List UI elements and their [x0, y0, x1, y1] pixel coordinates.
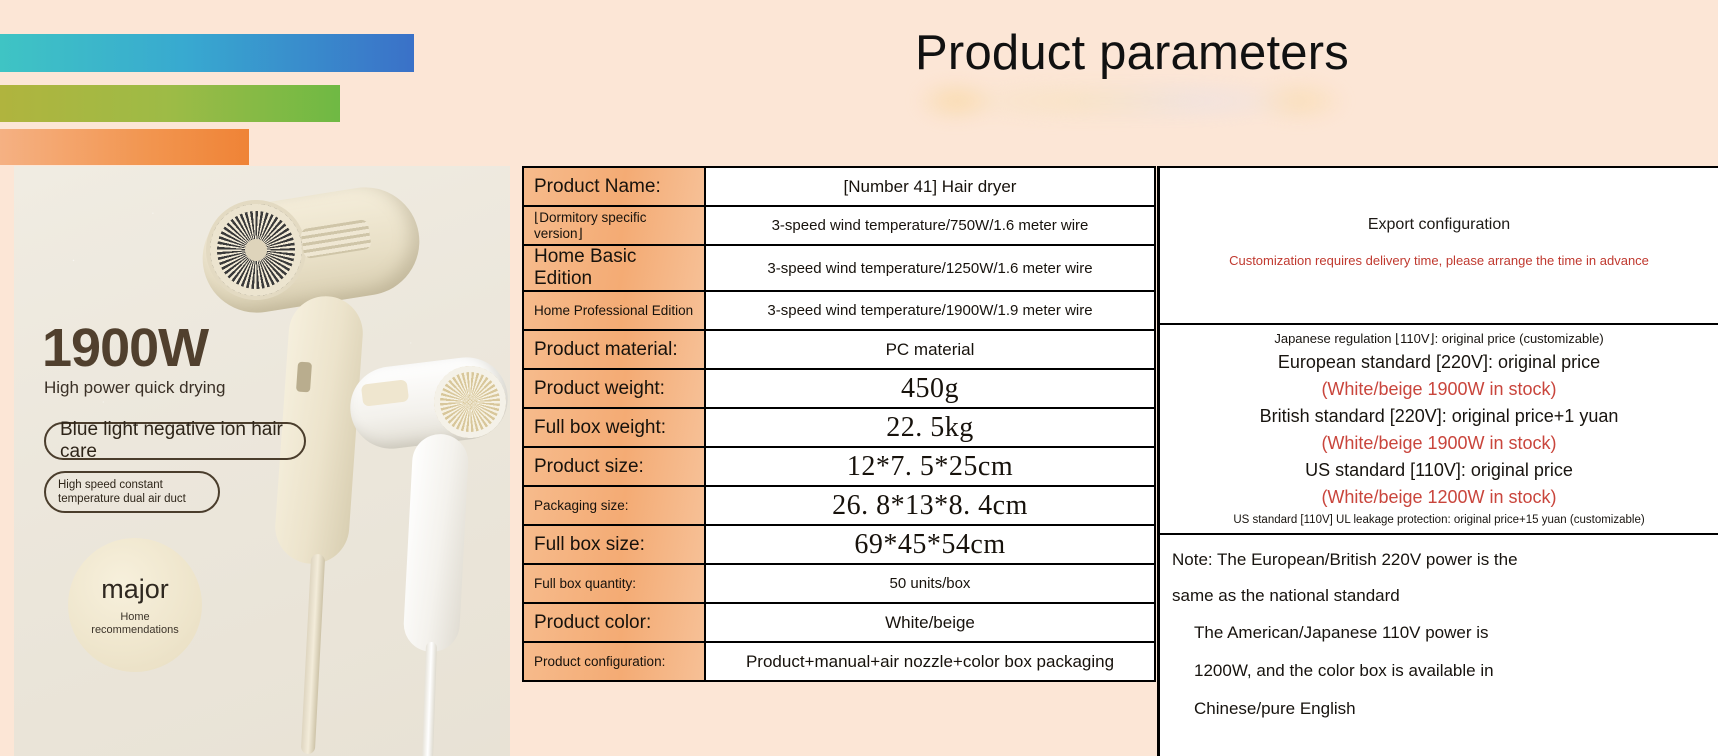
table-row: Home Basic Edition3-speed wind temperatu…	[523, 245, 1155, 291]
product-hero-image: 1900W High power quick drying Blue light…	[14, 166, 510, 756]
spec-key-cell: Product material:	[523, 330, 705, 369]
product-parameters-page: Product parameters 1900W High power quic…	[0, 0, 1718, 756]
export-divider-bottom	[1160, 533, 1718, 535]
table-row: Product weight:450g	[523, 369, 1155, 408]
table-row: Home Professional Edition3-speed wind te…	[523, 291, 1155, 330]
spec-key-cell: Full box weight:	[523, 408, 705, 447]
hero-feature-pill-dual-air-duct: High speed constant temperature dual air…	[44, 471, 220, 513]
spec-key-cell: ⌊Dormitory specific version⌋	[523, 206, 705, 245]
table-row: Full box weight:22. 5kg	[523, 408, 1155, 447]
export-standard-line: (White/beige 1900W in stock)	[1160, 430, 1718, 457]
export-note-line: Chinese/pure English	[1172, 690, 1712, 728]
decor-bar-orange	[0, 129, 249, 165]
decor-bar-teal-blue	[0, 34, 414, 72]
spec-value-cell: White/beige	[705, 603, 1155, 642]
export-divider-top	[1160, 323, 1718, 325]
spec-value-cell: 26. 8*13*8. 4cm	[705, 486, 1155, 525]
spec-key-cell: Product weight:	[523, 369, 705, 408]
hero-power-label: 1900W	[42, 317, 208, 379]
hero-power-subtitle: High power quick drying	[44, 378, 225, 398]
hero-feature-pill-ion-care-label: Blue light negative ion hair care	[60, 419, 304, 463]
spec-key-cell: Home Professional Edition	[523, 291, 705, 330]
spec-key-cell: Full box quantity:	[523, 564, 705, 603]
table-row: Packaging size:26. 8*13*8. 4cm	[523, 486, 1155, 525]
export-standards-list: Japanese regulation ⌊110V⌋: original pri…	[1160, 328, 1718, 530]
export-standard-line: European standard [220V]: original price	[1160, 349, 1718, 376]
hero-major-badge: major Home recommendations	[68, 538, 202, 672]
export-note-line: same as the national standard	[1172, 578, 1712, 614]
spec-value-cell: 69*45*54cm	[705, 525, 1155, 564]
export-standard-line: British standard [220V]: original price+…	[1160, 403, 1718, 430]
spec-value-cell: 450g	[705, 369, 1155, 408]
table-row: Product color:White/beige	[523, 603, 1155, 642]
export-note-line: The American/Japanese 110V power is	[1172, 614, 1712, 652]
table-row: Full box size:69*45*54cm	[523, 525, 1155, 564]
export-standard-line: (White/beige 1200W in stock)	[1160, 484, 1718, 511]
table-row: Product material:PC material	[523, 330, 1155, 369]
spec-value-cell: PC material	[705, 330, 1155, 369]
export-notes-block: Note: The European/British 220V power is…	[1172, 542, 1712, 728]
product-spec-table: Product Name:[Number 41] Hair dryer⌊Dorm…	[522, 166, 1156, 682]
export-note-line: 1200W, and the color box is available in	[1172, 652, 1712, 690]
table-row: ⌊Dormitory specific version⌋3-speed wind…	[523, 206, 1155, 245]
spec-value-cell: 22. 5kg	[705, 408, 1155, 447]
spec-value-cell: 3-speed wind temperature/1900W/1.9 meter…	[705, 291, 1155, 330]
spec-key-cell: Product Name:	[523, 167, 705, 206]
page-title: Product parameters	[900, 18, 1364, 88]
hero-major-badge-note: Home recommendations	[89, 611, 181, 637]
page-title-block: Product parameters	[900, 18, 1364, 136]
spec-key-cell: Full box size:	[523, 525, 705, 564]
table-row: Product size:12*7. 5*25cm	[523, 447, 1155, 486]
spec-value-cell: 3-speed wind temperature/1250W/1.6 meter…	[705, 245, 1155, 291]
spec-key-cell: Home Basic Edition	[523, 245, 705, 291]
export-standard-line: (White/beige 1900W in stock)	[1160, 376, 1718, 403]
hair-dryer-white-handle	[402, 433, 469, 654]
spec-key-cell: Product configuration:	[523, 642, 705, 681]
spec-value-cell: 12*7. 5*25cm	[705, 447, 1155, 486]
spec-key-cell: Product color:	[523, 603, 705, 642]
export-configuration-title: Export configuration	[1160, 216, 1718, 234]
export-standard-line: Japanese regulation ⌊110V⌋: original pri…	[1160, 328, 1718, 349]
decor-bar-olive-green	[0, 85, 340, 122]
table-row: Product configuration:Product+manual+air…	[523, 642, 1155, 681]
hero-feature-pill-dual-air-duct-label: High speed constant temperature dual air…	[58, 478, 218, 506]
spec-key-cell: Packaging size:	[523, 486, 705, 525]
export-note-line: Note: The European/British 220V power is…	[1172, 542, 1712, 578]
export-configuration-panel: Export configuration Customization requi…	[1157, 166, 1718, 756]
spec-value-cell: Product+manual+air nozzle+color box pack…	[705, 642, 1155, 681]
hero-feature-pill-ion-care: Blue light negative ion hair care	[44, 422, 306, 460]
product-spec-table-body: Product Name:[Number 41] Hair dryer⌊Dorm…	[523, 167, 1155, 681]
export-standard-line: US standard [110V]: original price	[1160, 457, 1718, 484]
export-customization-warning: Customization requires delivery time, pl…	[1160, 253, 1718, 268]
spec-key-cell: Product size:	[523, 447, 705, 486]
spec-value-cell: 3-speed wind temperature/750W/1.6 meter …	[705, 206, 1155, 245]
hair-dryer-beige-switch	[296, 362, 312, 393]
table-row: Product Name:[Number 41] Hair dryer	[523, 167, 1155, 206]
export-standard-line: US standard [110V] UL leakage protection…	[1160, 511, 1718, 530]
table-row: Full box quantity:50 units/box	[523, 564, 1155, 603]
hero-major-badge-title: major	[101, 574, 169, 605]
spec-value-cell: 50 units/box	[705, 564, 1155, 603]
spec-value-cell: [Number 41] Hair dryer	[705, 167, 1155, 206]
